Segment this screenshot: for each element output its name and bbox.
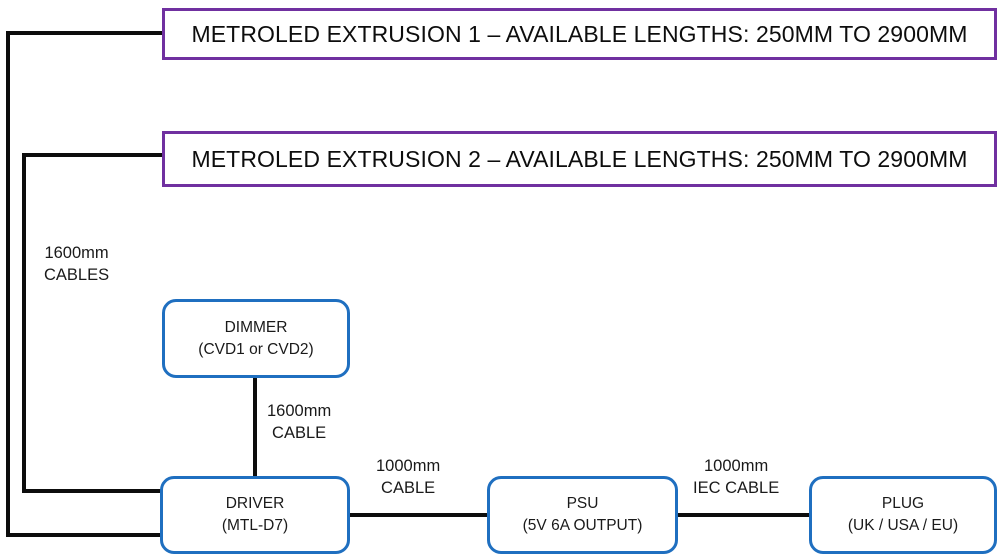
wire-extrusion1-horizontal-top <box>8 31 164 35</box>
component-dimmer[interactable]: DIMMER (CVD1 or CVD2) <box>162 299 350 378</box>
cable-label-dimmer-driver-length: 1600mm <box>267 400 331 422</box>
dimmer-name: DIMMER <box>225 317 288 339</box>
wire-extrusion1-horizontal-bottom <box>6 533 164 537</box>
wire-extrusion2-horizontal-bottom <box>22 489 164 493</box>
cable-label-driver-psu-length: 1000mm <box>376 455 440 477</box>
wiring-diagram: METROLED EXTRUSION 1 – AVAILABLE LENGTHS… <box>0 0 1000 558</box>
cable-label-psu-plug-length: 1000mm <box>693 455 779 477</box>
cable-label-dimmer-driver: 1600mm CABLE <box>267 400 331 445</box>
extrusion-2-label: METROLED EXTRUSION 2 – AVAILABLE LENGTHS… <box>191 148 967 171</box>
extrusion-box-2[interactable]: METROLED EXTRUSION 2 – AVAILABLE LENGTHS… <box>162 131 997 187</box>
wire-extrusion2-vertical <box>22 153 26 491</box>
plug-name: PLUG <box>882 493 924 515</box>
driver-name: DRIVER <box>226 493 285 515</box>
extrusion-box-1[interactable]: METROLED EXTRUSION 1 – AVAILABLE LENGTHS… <box>162 8 997 60</box>
component-psu[interactable]: PSU (5V 6A OUTPUT) <box>487 476 678 554</box>
wire-driver-to-psu <box>348 513 489 517</box>
wire-extrusion2-horizontal-top <box>24 153 164 157</box>
extrusion-1-label: METROLED EXTRUSION 1 – AVAILABLE LENGTHS… <box>191 23 967 46</box>
psu-name: PSU <box>567 493 599 515</box>
dimmer-detail: (CVD1 or CVD2) <box>198 339 313 361</box>
component-plug[interactable]: PLUG (UK / USA / EU) <box>809 476 997 554</box>
cable-label-dimmer-driver-kind: CABLE <box>267 422 331 444</box>
cable-label-driver-psu: 1000mm CABLE <box>376 455 440 500</box>
psu-detail: (5V 6A OUTPUT) <box>523 515 643 537</box>
cable-label-driver-psu-kind: CABLE <box>376 477 440 499</box>
wire-dimmer-to-driver <box>253 376 257 478</box>
wire-psu-to-plug <box>676 513 811 517</box>
cable-label-psu-plug-kind: IEC CABLE <box>693 477 779 499</box>
component-driver[interactable]: DRIVER (MTL-D7) <box>160 476 350 554</box>
driver-detail: (MTL-D7) <box>222 515 288 537</box>
cable-label-psu-plug: 1000mm IEC CABLE <box>693 455 779 500</box>
cable-label-extrusion-feeds: 1600mm CABLES <box>44 242 109 287</box>
wire-extrusion1-vertical <box>6 31 10 537</box>
cable-label-extrusion-feeds-length: 1600mm <box>44 242 109 264</box>
plug-detail: (UK / USA / EU) <box>848 515 958 537</box>
cable-label-extrusion-feeds-kind: CABLES <box>44 264 109 286</box>
